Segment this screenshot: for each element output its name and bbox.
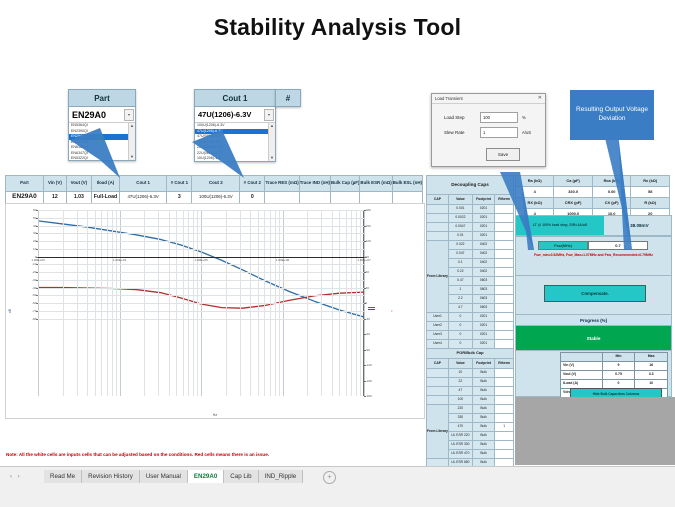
fsw-input[interactable]: 0.7 (588, 241, 648, 250)
cell-trace-ind[interactable] (299, 192, 330, 204)
minmax-min: 0.75 (602, 371, 635, 380)
caps-cell-rtherm[interactable] (495, 250, 514, 259)
results-row: Ra (kΩ)Ca (pF)Rca (kΩ)Rx (kΩ) (516, 176, 670, 187)
table-header-row: Part Vin (V) Vout (V) Iload (A) Cout 1 #… (6, 176, 423, 192)
slew-rate-label: Slew Rate (444, 130, 480, 135)
chart-y2-tick: -180 (366, 394, 372, 398)
chart-gridline-h (38, 241, 364, 242)
minmax-label: Vout (V) (561, 371, 603, 380)
note-text: Note: All the white cells are inputs cel… (6, 452, 269, 457)
sheet-tab-revision-history[interactable]: Revision History (82, 470, 140, 483)
caps-cell-value[interactable]: 0.1 (448, 259, 472, 268)
bulk-row: 100Bulk (427, 396, 514, 405)
fsw-label: Fsw(MHz) (538, 241, 588, 250)
scroll-down-icon[interactable]: ▼ (129, 154, 135, 160)
chart-gridline-h (38, 303, 364, 304)
page-title: Stability Analysis Tool (0, 14, 675, 41)
bulk-cell-rtherm[interactable] (495, 441, 514, 450)
caps-cell-rtherm[interactable] (495, 304, 514, 313)
caps-cell-footprint: 0603 (472, 277, 494, 286)
col-header-num-cout1: # Cout 1 (167, 176, 192, 192)
chart-gridline-h (38, 218, 364, 219)
caps-row: From Library0.0220402 (427, 241, 514, 250)
chart-gridline-h (38, 272, 364, 273)
part-popup-header: Part (69, 90, 135, 107)
caps-cell-rtherm[interactable] (495, 223, 514, 232)
callout-resulting-output-voltage-deviation: Resulting Output Voltage Deviation (570, 90, 654, 140)
chart-gridline-h (38, 295, 364, 296)
caps-col-header-2: Footprint (472, 195, 494, 205)
caps-cell-rtherm[interactable] (495, 322, 514, 331)
bulk-cell-footprint: Bulk (472, 396, 494, 405)
bulk-cell-name (427, 369, 449, 378)
chart-gridline-h (38, 280, 364, 281)
chart-x-tick: 1.00E+05 (194, 258, 207, 262)
bulk-cell-value[interactable]: 220 (448, 405, 472, 414)
chart-y2-tick: 180 (366, 208, 371, 212)
chart-y-tickmark (36, 319, 38, 320)
caps-cell-footprint: 0201 (472, 214, 494, 223)
chart-x-tick: 1.00E+07 (357, 258, 370, 262)
result-value-2[interactable]: 0.00 (592, 187, 631, 198)
bulk-cell-value[interactable]: UL ESR 330 (448, 441, 472, 450)
bulk-cell-footprint: Bulk (472, 387, 494, 396)
sheet-tab-en29a0[interactable]: EN29A0 (188, 470, 224, 483)
bulk-row: 22Bulk (427, 378, 514, 387)
caps-cell-name: User2 (427, 322, 449, 331)
chart-legend (368, 307, 420, 312)
bulk-col-header-0: CAP (427, 359, 449, 369)
cell-bulk-esl[interactable] (392, 192, 422, 204)
parameter-table: Part Vin (V) Vout (V) Iload (A) Cout 1 #… (5, 175, 423, 204)
bulk-col-header-2: Footprint (472, 359, 494, 369)
cell-num-cout1[interactable]: 3 (167, 192, 192, 204)
cell-bulk-cap[interactable] (331, 192, 360, 204)
col-header-part: Part (6, 176, 44, 192)
bulk-cell-footprint: Bulk (472, 450, 494, 459)
col-header-trace-ind: Trace IND (nH) (299, 176, 330, 192)
caps-col-header-3: Rtherm (495, 195, 514, 205)
bulk-cell-value[interactable]: 100 (448, 396, 472, 405)
cell-vout[interactable]: 1.03 (66, 192, 91, 204)
scrollbar[interactable]: ▲ ▼ (128, 123, 135, 160)
dropdown-option[interactable]: EN5322QI (69, 156, 135, 160)
caps-row: 0.00470201 (427, 223, 514, 232)
sheet-tab-read-me[interactable]: Read Me (44, 470, 82, 483)
bulk-cell-rtherm[interactable] (495, 432, 514, 441)
caps-cell-value[interactable]: 0 (448, 331, 472, 340)
chart-gridline-h (38, 249, 364, 250)
bulk-cell-rtherm[interactable] (495, 450, 514, 459)
callout-text: Resulting Output Voltage Deviation (573, 106, 651, 124)
save-button[interactable]: Save (486, 148, 520, 161)
compensate-button[interactable]: Compensate. (544, 285, 646, 302)
caps-cell-footprint: 0603 (472, 295, 494, 304)
caps-cell-value[interactable]: 0.22 (448, 268, 472, 277)
bulk-cell-rtherm[interactable] (495, 396, 514, 405)
bulk-cell-value[interactable]: UL ESR 470 (448, 450, 472, 459)
result-header-0: RX (kΩ) (516, 198, 554, 209)
chart-y2-tickmark (364, 381, 366, 382)
caps-cell-name (427, 223, 449, 232)
dropdown-option[interactable]: 10U(1206)-10V (195, 156, 275, 161)
bulk-cell-footprint: Bulk (472, 423, 494, 432)
bulk-row: 10Bulk (427, 369, 514, 378)
chart-y2-tickmark (364, 319, 366, 320)
caps-cell-value[interactable]: 0 (448, 340, 472, 349)
col-header-bulk-esr: Bulk ESR (mΩ) (360, 176, 392, 192)
chart-y-tickmark (36, 272, 38, 273)
result-header-2: CX (pF) (592, 198, 631, 209)
minmax-col-header-1: Min (602, 353, 635, 362)
chart-y2-tickmark (364, 272, 366, 273)
minmax-min: 9 (602, 362, 635, 371)
minmax-col-header-0 (561, 353, 603, 362)
col-header-vin: Vin (V) (43, 176, 66, 192)
caps-cell-value[interactable]: 4.7 (448, 304, 472, 313)
cout-popup-value[interactable]: 47U(1206)-6.3V ▾ (195, 107, 275, 123)
chart-x-tick: 1.00E+04 (113, 258, 126, 262)
close-icon[interactable]: ✕ (538, 95, 542, 101)
chart-y-tickmark (36, 249, 38, 250)
scrollbar[interactable]: ▲ ▼ (268, 123, 275, 161)
sheet-tab-user-manual[interactable]: User Manual (140, 470, 188, 483)
bulk-cell-rtherm[interactable]: 1 (495, 423, 514, 432)
chart-y-tickmark (36, 218, 38, 219)
result-header-0: Ra (kΩ) (516, 176, 554, 187)
load-step-label: Load Step (444, 115, 480, 120)
load-step-input[interactable]: 100 (480, 112, 518, 123)
caps-cell-rtherm[interactable] (495, 214, 514, 223)
chart-gridline-h (38, 233, 364, 234)
chart-y2-tickmark (364, 350, 366, 351)
cell-iload[interactable]: Full-Load (91, 192, 119, 204)
caps-cell-footprint: 0603 (472, 304, 494, 313)
col-header-num-cout2: # Cout 2 (240, 176, 265, 192)
minmax-header-row: MinMax (561, 353, 668, 362)
caps-cell-rtherm[interactable] (495, 331, 514, 340)
bulk-library-label: From Library (427, 405, 449, 459)
part-dropdown-popup: Part EN29A0 ▾ EN5364QIEN2390QIEN29A0EN63… (68, 89, 136, 161)
caps-cell-name: User1 (427, 313, 449, 322)
chart-y2-tickmark (364, 288, 366, 289)
bulk-cell-value[interactable]: 22 (448, 378, 472, 387)
caps-cell-value[interactable]: 1 (448, 286, 472, 295)
result-header-3: R (kΩ) (631, 198, 670, 209)
result-header-3: Rx (kΩ) (631, 176, 670, 187)
chart-y2-tickmark (364, 365, 366, 366)
tab-scroll-arrows[interactable]: ‹ › (10, 474, 22, 480)
load-transient-result: LT @ 100% load step, S/R=1A/uS ± 38.08mV (515, 215, 672, 236)
bulk-cell-value[interactable]: UL ESR 220 (448, 432, 472, 441)
caps-cell-value[interactable]: 2.2 (448, 295, 472, 304)
cell-part[interactable]: EN29A0 (6, 192, 44, 204)
caps-cell-value[interactable]: 0.47 (448, 277, 472, 286)
caps-cell-footprint: 0201 (472, 331, 494, 340)
col-header-trace-res: Trace RES (mΩ) (265, 176, 299, 192)
caps-cell-name: User4 (427, 340, 449, 349)
bulk-cell-footprint: Bulk (472, 414, 494, 423)
slew-rate-row: Slew Rate 1 A/uS (444, 127, 531, 138)
caps-cell-value[interactable]: 0 (448, 322, 472, 331)
chart-y-tickmark (36, 280, 38, 281)
chart-gridline-h (38, 210, 364, 211)
sheet-tab-bar: ‹ › Read MeRevision HistoryUser ManualEN… (0, 466, 675, 507)
caps-cell-rtherm[interactable] (495, 313, 514, 322)
bulk-cell-footprint: Bulk (472, 441, 494, 450)
bulk-cell-value[interactable]: 10 (448, 369, 472, 378)
bulk-cell-name (427, 387, 449, 396)
chart-y-tickmark (36, 241, 38, 242)
result-value-1[interactable]: 330.0 (554, 187, 592, 198)
dialog-title-text: Load Transient (435, 96, 463, 101)
result-header-1: CRX (pF) (554, 198, 592, 209)
col-header-bulk-cap: Bulk Cap (µF) (331, 176, 360, 192)
chart-legend-item (368, 309, 420, 310)
chevron-down-icon[interactable]: ▾ (264, 109, 274, 121)
cout-popup-header: Cout 1 (195, 90, 275, 107)
part-popup-value-text: EN29A0 (72, 110, 106, 120)
minmax-row: Vout (V)0.753.3 (561, 371, 668, 380)
bulk-cell-name (427, 378, 449, 387)
caps-row: User300201 (427, 331, 514, 340)
caps-cell-footprint: 0402 (472, 268, 494, 277)
add-sheet-button[interactable]: + (323, 471, 336, 484)
cout-option-list[interactable]: 100U(1206)-6.3V47U(1206)-6.3V47U(0805)-6… (195, 123, 275, 161)
load-transient-result-value: ± 38.08mV (604, 216, 671, 235)
chart-y2-tickmark (364, 226, 366, 227)
bulk-row: From Library220Bulk (427, 405, 514, 414)
sheet-tabs: Read MeRevision HistoryUser ManualEN29A0… (44, 470, 303, 483)
chart-y2-tick: 60 (366, 270, 369, 274)
slew-rate-input[interactable]: 1 (480, 127, 518, 138)
caps-row: User400201 (427, 340, 514, 349)
col-header-iload: Iload (A) (91, 176, 119, 192)
minmax-max: 16 (635, 362, 668, 371)
chart-y-tickmark (36, 210, 38, 211)
cell-cout2[interactable]: 100U(1206)-6.3V (192, 192, 240, 204)
caps-cell-footprint: 0402 (472, 259, 494, 268)
bulk-cell-footprint: Bulk (472, 378, 494, 387)
chart-y-tickmark (36, 295, 38, 296)
chart-y2-tick: 30 (366, 286, 369, 290)
caps-cell-footprint: 0201 (472, 340, 494, 349)
bulk-cell-rtherm[interactable] (495, 369, 514, 378)
part-option-list[interactable]: EN5364QIEN2390QIEN29A0EN63A0QIEN6362QIEN… (69, 123, 135, 160)
caps-cell-name: User3 (427, 331, 449, 340)
caps-row: 0.00220201 (427, 214, 514, 223)
bulk-cell-rtherm[interactable] (495, 414, 514, 423)
bulk-cell-rtherm[interactable] (495, 387, 514, 396)
bulk-cell-rtherm[interactable] (495, 378, 514, 387)
load-transient-dialog: Load Transient ✕ Load Step 100 % Slew Ra… (431, 93, 546, 167)
bode-chart: 6050403020100-10-20-30-40-50-60-70-80180… (5, 203, 425, 419)
decoupling-library-label: From Library (427, 241, 449, 313)
caps-cell-rtherm[interactable] (495, 295, 514, 304)
bulk-cell-value[interactable]: 47 (448, 387, 472, 396)
bulk-col-header-1: Value (448, 359, 472, 369)
load-step-unit: % (522, 115, 526, 120)
minmax-col-header-2: Max (635, 353, 668, 362)
chart-y2-tick: 120 (366, 239, 371, 243)
caps-cell-footprint: 0201 (472, 205, 494, 214)
load-transient-result-label: LT @ 100% load step, S/R=1A/uS (516, 216, 604, 235)
caps-cell-rtherm[interactable] (495, 205, 514, 214)
empty-area (515, 397, 675, 465)
chart-y2-tickmark (364, 303, 366, 304)
minmax-label: Vin (V) (561, 362, 603, 371)
caps-cell-rtherm[interactable] (495, 268, 514, 277)
chart-gridline-h (38, 311, 364, 312)
chart-y2-tick: -150 (366, 379, 372, 383)
load-step-row: Load Step 100 % (444, 112, 526, 123)
result-value-3[interactable]: 58 (631, 187, 670, 198)
chart-x-tick: 1.00E+03 (31, 258, 44, 262)
chart-y2-tick: -120 (366, 363, 372, 367)
cell-num-cout2[interactable]: 0 (240, 192, 265, 204)
cell-cout1[interactable]: 47U(1206)-6.3V (120, 192, 167, 204)
chart-y-tickmark (36, 288, 38, 289)
chevron-down-icon[interactable]: ▾ (124, 109, 134, 121)
chart-y-tickmark (36, 303, 38, 304)
cout1-dropdown-popup: Cout 1 47U(1206)-6.3V ▾ 100U(1206)-6.3V4… (194, 89, 276, 162)
chart-legend-item (368, 307, 420, 308)
part-popup-value[interactable]: EN29A0 ▾ (69, 107, 135, 123)
caps-row: 0.010201 (427, 232, 514, 241)
caps-cell-footprint: 0603 (472, 286, 494, 295)
col-header-cout2: Cout 2 (192, 176, 240, 192)
caps-cell-footprint: 0201 (472, 313, 494, 322)
caps-row: User200201 (427, 322, 514, 331)
cout-hash-header: # (275, 89, 301, 107)
slew-rate-unit: A/uS (522, 130, 531, 135)
caps-row: 0.0010201 (427, 205, 514, 214)
minmax-row: Vin (V)916 (561, 362, 668, 371)
caps-cell-rtherm[interactable] (495, 232, 514, 241)
bulk-cell-value[interactable]: 470 (448, 423, 472, 432)
caps-cell-rtherm[interactable] (495, 286, 514, 295)
caps-col-header-1: Value (448, 195, 472, 205)
sheet-tab-ind-ripple[interactable]: IND_Ripple (259, 470, 304, 483)
chart-y2-tick: -90 (366, 348, 370, 352)
legend-swatch (368, 307, 375, 308)
chart-y2-tickmark (364, 241, 366, 242)
legend-swatch (368, 309, 375, 310)
scroll-up-icon[interactable]: ▲ (269, 123, 275, 129)
caps-library-table: Decoupling CapsCAPValueFootprintRtherm0.… (426, 175, 514, 495)
caps-cell-name (427, 205, 449, 214)
chart-y-tickmark (36, 311, 38, 312)
chart-gridline-h (38, 319, 364, 320)
chart-y-tickmark (36, 226, 38, 227)
col-header-vout: Vout (V) (66, 176, 91, 192)
caps-cell-value[interactable]: 0 (448, 313, 472, 322)
scroll-down-icon[interactable]: ▼ (269, 155, 275, 161)
sheet-tab-cap-lib[interactable]: Cap Lib (224, 470, 258, 483)
caps-cell-rtherm[interactable] (495, 277, 514, 286)
caps-cell-value[interactable]: 0.0047 (448, 223, 472, 232)
fsw-note: Fsw_min=0.52MHz, Fsw_Max=1.07MHz and Fsw… (521, 253, 666, 258)
caps-cell-footprint: 0402 (472, 250, 494, 259)
caps-cell-footprint: 0402 (472, 241, 494, 250)
caps-cell-rtherm[interactable] (495, 259, 514, 268)
bulk-cell-footprint: Bulk (472, 369, 494, 378)
result-header-1: Ca (pF) (554, 176, 592, 187)
caps-cell-footprint: 0201 (472, 322, 494, 331)
chart-x-tick: 1.00E+06 (276, 258, 289, 262)
spreadsheet-area: Part Vin (V) Vout (V) Iload (A) Cout 1 #… (0, 175, 675, 465)
caps-cell-footprint: 0201 (472, 232, 494, 241)
minmax-max: 3.3 (635, 371, 668, 380)
result-value-0[interactable]: 4 (516, 187, 554, 198)
bulk-caps-title: POR/Bulk Cap (427, 349, 514, 359)
caps-cell-value[interactable]: 0.0022 (448, 214, 472, 223)
compensate-zone: Compensate. (515, 275, 672, 315)
fsw-panel: Fsw(MHz) 0.7 Fsw_min=0.52MHz, Fsw_Max=1.… (515, 236, 672, 276)
chart-y-tickmark (36, 264, 38, 265)
caps-col-header-0: CAP (427, 195, 449, 205)
chart-y-axis-label: dB (8, 309, 12, 313)
chart-plot-area: 6050403020100-10-20-30-40-50-60-70-80180… (38, 210, 364, 396)
chart-y-tickmark (36, 233, 38, 234)
results-row: 4330.00.0058 (516, 187, 670, 198)
fsw-row: Fsw(MHz) 0.7 (538, 241, 648, 250)
bulk-cell-footprint: Bulk (472, 405, 494, 414)
caps-cell-name (427, 232, 449, 241)
bulk-cell-rtherm[interactable] (495, 405, 514, 414)
caps-cell-rtherm[interactable] (495, 241, 514, 250)
result-header-2: Rca (kΩ) (592, 176, 631, 187)
table-row: EN29A0 12 1.03 Full-Load 47U(1206)-6.3V … (6, 192, 423, 204)
caps-cell-value[interactable]: 0.001 (448, 205, 472, 214)
chart-y2-tickmark (364, 210, 366, 211)
cell-vin[interactable]: 12 (43, 192, 66, 204)
bulk-cell-name (427, 396, 449, 405)
caps-cell-value[interactable]: 0.01 (448, 232, 472, 241)
chart-y2-tick: 150 (366, 224, 371, 228)
chart-y2-tickmark (364, 334, 366, 335)
chart-y2-tick: -60 (366, 332, 370, 336)
col-header-bulk-esl: Bulk ESL (nH) (392, 176, 422, 192)
cout-popup-value-text: 47U(1206)-6.3V (198, 110, 251, 119)
scroll-up-icon[interactable]: ▲ (129, 123, 135, 129)
decoupling-caps-title: Decoupling Caps (427, 176, 514, 195)
chart-gridline-h (38, 288, 364, 289)
results-row: RX (kΩ)CRX (pF)CX (pF)R (kΩ) (516, 198, 670, 209)
chart-y2-tickmark (364, 396, 366, 397)
chart-gridline-h (38, 264, 364, 265)
caps-cell-footprint: 0201 (472, 223, 494, 232)
caps-cell-value[interactable]: 0.022 (448, 241, 472, 250)
caps-cell-name (427, 214, 449, 223)
bulk-cell-footprint: Bulk (472, 432, 494, 441)
chart-x-axis-label: Hz (213, 413, 217, 417)
status-badge: Stable (515, 325, 672, 352)
col-header-cout1: Cout 1 (120, 176, 167, 192)
bulk-row: 47Bulk (427, 387, 514, 396)
cell-trace-res[interactable] (265, 192, 299, 204)
cell-bulk-esr[interactable] (360, 192, 392, 204)
bulk-col-header-3: Rtherm (495, 359, 514, 369)
chart-y2-tick: -30 (366, 317, 370, 321)
cout-hash-label: # (276, 90, 300, 106)
caps-cell-value[interactable]: 0.047 (448, 250, 472, 259)
load-transient-dialog-title: Load Transient ✕ (432, 94, 545, 104)
caps-cell-rtherm[interactable] (495, 340, 514, 349)
chart-gridline-h (38, 226, 364, 227)
bulk-cell-value[interactable]: 330 (448, 414, 472, 423)
caps-row: User100201 (427, 313, 514, 322)
